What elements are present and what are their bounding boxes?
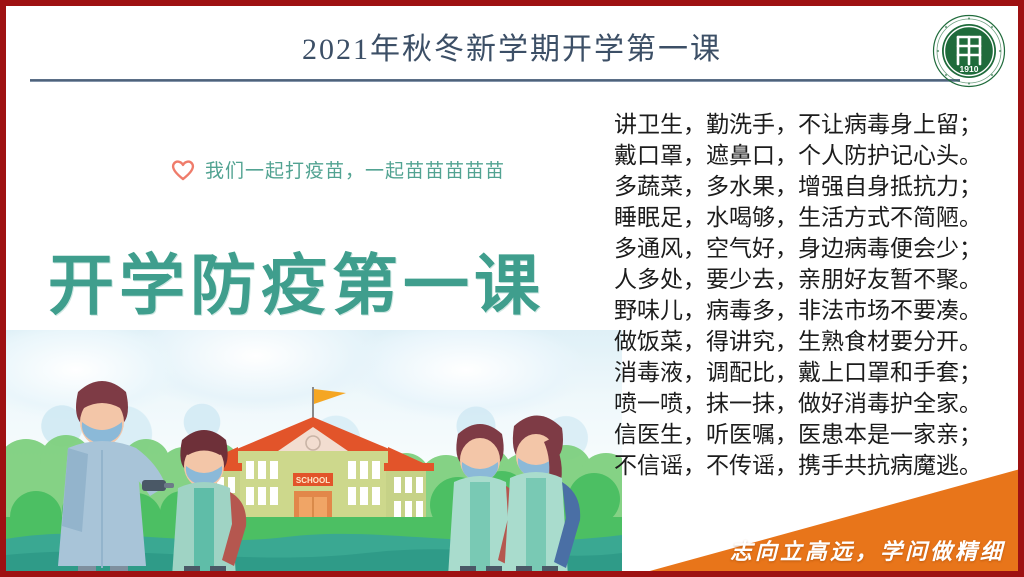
poster-headline: 开学防疫第一课	[48, 232, 545, 328]
verse-line: 喷一喷，抹一抹，做好消毒护全家。	[614, 388, 1018, 419]
verse-line: 信医生，听医嘱，医患本是一家亲；	[614, 419, 1018, 450]
verse-line: 野味儿，病毒多，非法市场不要凑。	[614, 295, 1018, 326]
poster-tagline-text: 我们一起打疫苗，一起苗苗苗苗苗	[205, 156, 505, 183]
character-student-b	[504, 415, 580, 577]
verse-line: 多蔬菜，多水果，增强自身抵抗力；	[614, 171, 1018, 202]
header-divider	[30, 79, 960, 82]
presentation-slide: 2021年秋冬新学期开学第一课 1910	[0, 0, 1024, 577]
verse-line: 讲卫生，勤洗手，不让病毒身上留；	[614, 109, 1018, 140]
seal-year-text: 1910	[960, 64, 979, 74]
verse-line: 多通风，空气好，身边病毒便会少；	[614, 233, 1018, 264]
verse-line: 戴口罩，遮鼻口，个人防护记心头。	[614, 140, 1018, 171]
university-seal-logo: 1910	[932, 14, 1006, 88]
poster-tagline: 我们一起打疫苗，一起苗苗苗苗苗	[170, 156, 505, 183]
characters-group	[6, 330, 622, 577]
verse-line: 做饭菜，得讲究，生熟食材要分开。	[614, 326, 1018, 357]
poster-illustration: SCHOOL	[6, 94, 622, 577]
heart-icon	[170, 158, 196, 182]
character-child-left	[172, 430, 246, 577]
verse-line: 睡眠足，水喝够，生活方式不简陋。	[614, 202, 1018, 233]
footer-slogan: 志向立高远，学问做精细	[730, 534, 1005, 566]
verse-line: 人多处，要少去，亲朋好友暂不聚。	[614, 264, 1018, 295]
character-adult	[58, 381, 174, 577]
verse-text-block: 讲卫生，勤洗手，不让病毒身上留； 戴口罩，遮鼻口，个人防护记心头。 多蔬菜，多水…	[614, 109, 1018, 481]
verse-line: 消毒液，调配比，戴上口罩和手套；	[614, 357, 1018, 388]
page-title: 2021年秋冬新学期开学第一课	[6, 24, 1018, 68]
